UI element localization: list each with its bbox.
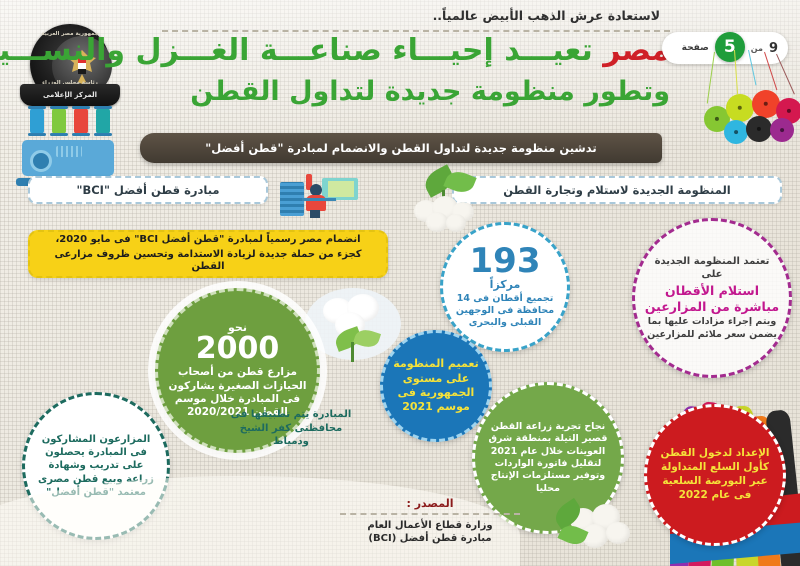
green-owainat-text: نجاح تجربة زراعة القطن قصير التيلة بمنطق…	[483, 421, 613, 495]
red-bubble-text: الإعداد لدخول القطن كأول السلع المتداولة…	[655, 447, 775, 502]
source-block: المصدر : وزارة قطاع الأعمال العام مبادرة…	[340, 497, 520, 545]
source-divider	[340, 513, 520, 515]
page-title-line2: وتطور منظومة جديدة لتداول القطن	[190, 78, 670, 105]
cotton-boll-icon-large	[305, 288, 401, 368]
title-line1-rest: تعيـــد إحيـــاء صناعـــة الغـــزل والنس…	[0, 33, 593, 68]
page-title-line1: مصر تعيـــد إحيـــاء صناعـــة الغـــزل و…	[0, 36, 670, 66]
source-line2: مبادرة قطن أفضل (BCI)	[340, 532, 520, 545]
yellow-callout-line1: انضمام مصر رسمياً لمبادرة "قطن أفضل BCI"…	[55, 234, 360, 247]
yellow-callout: انضمام مصر رسمياً لمبادرة "قطن أفضل BCI"…	[28, 230, 388, 278]
blue-bubble-text: تعميم المنظومة على مستوى الجمهورية فى مو…	[391, 357, 481, 414]
cotton-boll-icon-footer	[540, 500, 650, 566]
pink-bubble-direct-receipt: تعتمد المنظومة الجديدة على استلام الأقطا…	[632, 218, 792, 378]
green-bubble-number: 2000	[196, 334, 280, 364]
subtitle-banner-text: تدشين منظومة جديدة لتداول القطن والانضما…	[205, 141, 596, 155]
section-header-new-system-label: المنظومة الجديدة لاستلام وتجارة القطن	[503, 183, 730, 197]
stat-centers-unit: مركزاً	[490, 278, 521, 291]
page-number-badge: 5	[715, 32, 745, 62]
pink-bubble-bottom: ويتم إجراء مزادات عليها بما يضمن سعر ملا…	[643, 316, 781, 341]
worker-illustration	[276, 168, 364, 220]
kicker-text: لاستعادة عرش الذهب الأبيض عالمياً..	[433, 8, 660, 23]
infographic-canvas: جمهورية مصر العربية رئاسة مجلس الوزراء ا…	[0, 0, 800, 566]
yarn-balls-icon	[690, 60, 800, 175]
emblem-ribbon-text: المركز الإعلامى	[43, 91, 97, 99]
source-label: المصدر :	[340, 497, 520, 510]
section-header-new-system: المنظومة الجديدة لاستلام وتجارة القطن	[452, 176, 782, 204]
red-bubble-commodity-exchange: الإعداد لدخول القطن كأول السلع المتداولة…	[644, 404, 786, 546]
title-word-egypt: مصر	[603, 33, 670, 68]
page-label: صفحة	[682, 43, 709, 53]
subtitle-banner: تدشين منظومة جديدة لتداول القطن والانضما…	[140, 133, 662, 163]
stat-centers-description: تجميع أقطان فى 14 محافظة فى الوجهين القب…	[451, 293, 559, 329]
stat-collection-centers: 193 مركزاً تجميع أقطان فى 14 محافظة فى ا…	[440, 222, 570, 352]
mid-text-governorates: المبادرة يتم تطبيقها فى محافظتى كفر الشي…	[226, 408, 356, 449]
pink-bubble-highlight: استلام الأقطان مباشرة من المزارعين	[643, 283, 781, 314]
page-of-label: من	[751, 44, 763, 53]
pink-bubble-top: تعتمد المنظومة الجديدة على	[643, 255, 781, 281]
section-header-bci: مبادرة قطن أفضل "BCI"	[28, 176, 268, 204]
header-divider	[162, 30, 670, 32]
blue-bubble-nationwide: تعميم المنظومة على مستوى الجمهورية فى مو…	[380, 330, 492, 442]
source-line1: وزارة قطاع الأعمال العام	[340, 519, 520, 532]
yellow-callout-line2: كجزء من حملة جديدة لزيادة الاستدامة وتحس…	[38, 249, 378, 274]
section-header-bci-label: مبادرة قطن أفضل "BCI"	[76, 183, 219, 197]
stat-centers-number: 193	[470, 245, 541, 277]
